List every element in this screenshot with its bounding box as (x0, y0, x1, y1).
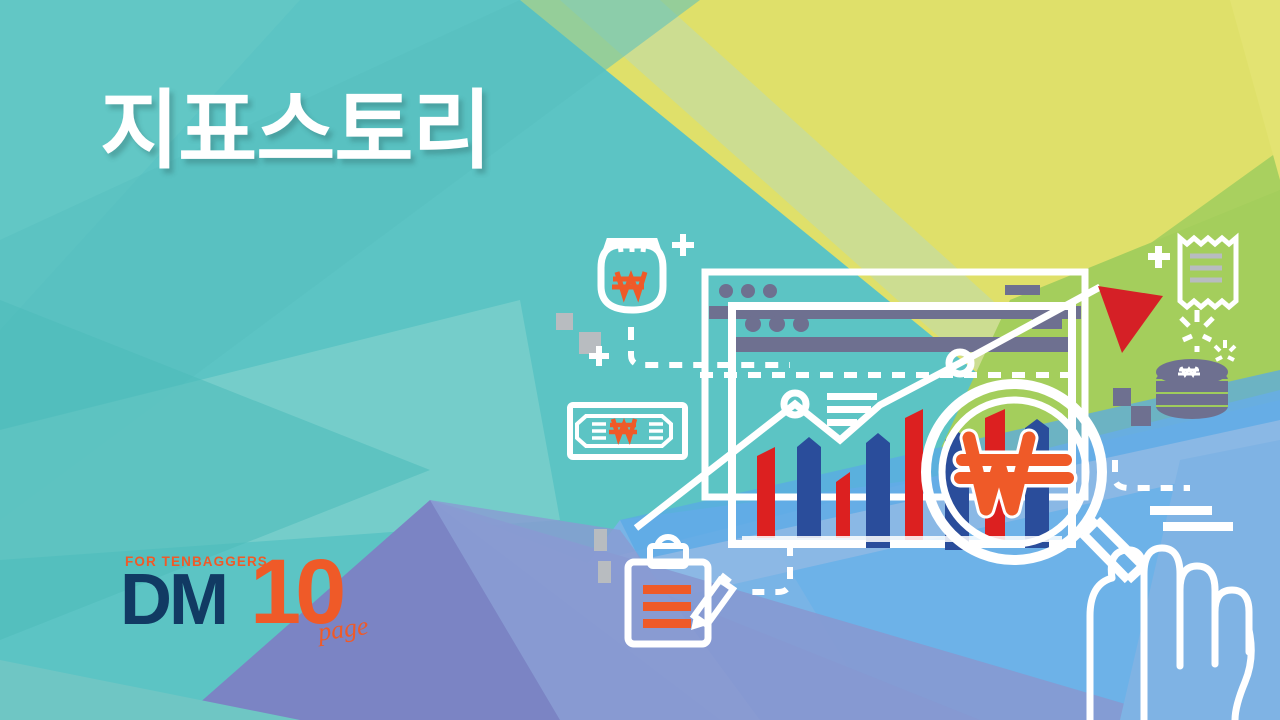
won-glyph (612, 272, 645, 295)
page-title: 지표스토리 (100, 88, 491, 174)
decor-squares-left (556, 313, 601, 354)
sparkle-icon (1181, 310, 1213, 352)
won-glyph (609, 419, 637, 438)
pencil-icon (691, 575, 733, 630)
sparkle-icon-small (1215, 340, 1235, 360)
won-glyph (1178, 367, 1200, 375)
clipboard-pencil-icon (628, 537, 733, 644)
logo-brand: DM (120, 564, 226, 636)
right-text-lines (1150, 506, 1233, 531)
coin-stack-icon (1156, 359, 1228, 419)
hand-icon (1090, 548, 1251, 720)
decor-squares-bottom (594, 529, 611, 583)
money-bag-icon (601, 241, 663, 310)
logo-suffix: page (316, 611, 370, 648)
receipt-icon (1180, 238, 1236, 307)
banknote-icon (570, 405, 685, 457)
brand-logo[interactable]: FOR TENBAGGERS, DM 10 page (120, 550, 380, 650)
poster-canvas: 지표스토리 FOR TENBAGGERS, DM 10 page (0, 0, 1280, 720)
trend-arrow-icon (1098, 286, 1163, 353)
decor-squares-right (1113, 388, 1151, 426)
